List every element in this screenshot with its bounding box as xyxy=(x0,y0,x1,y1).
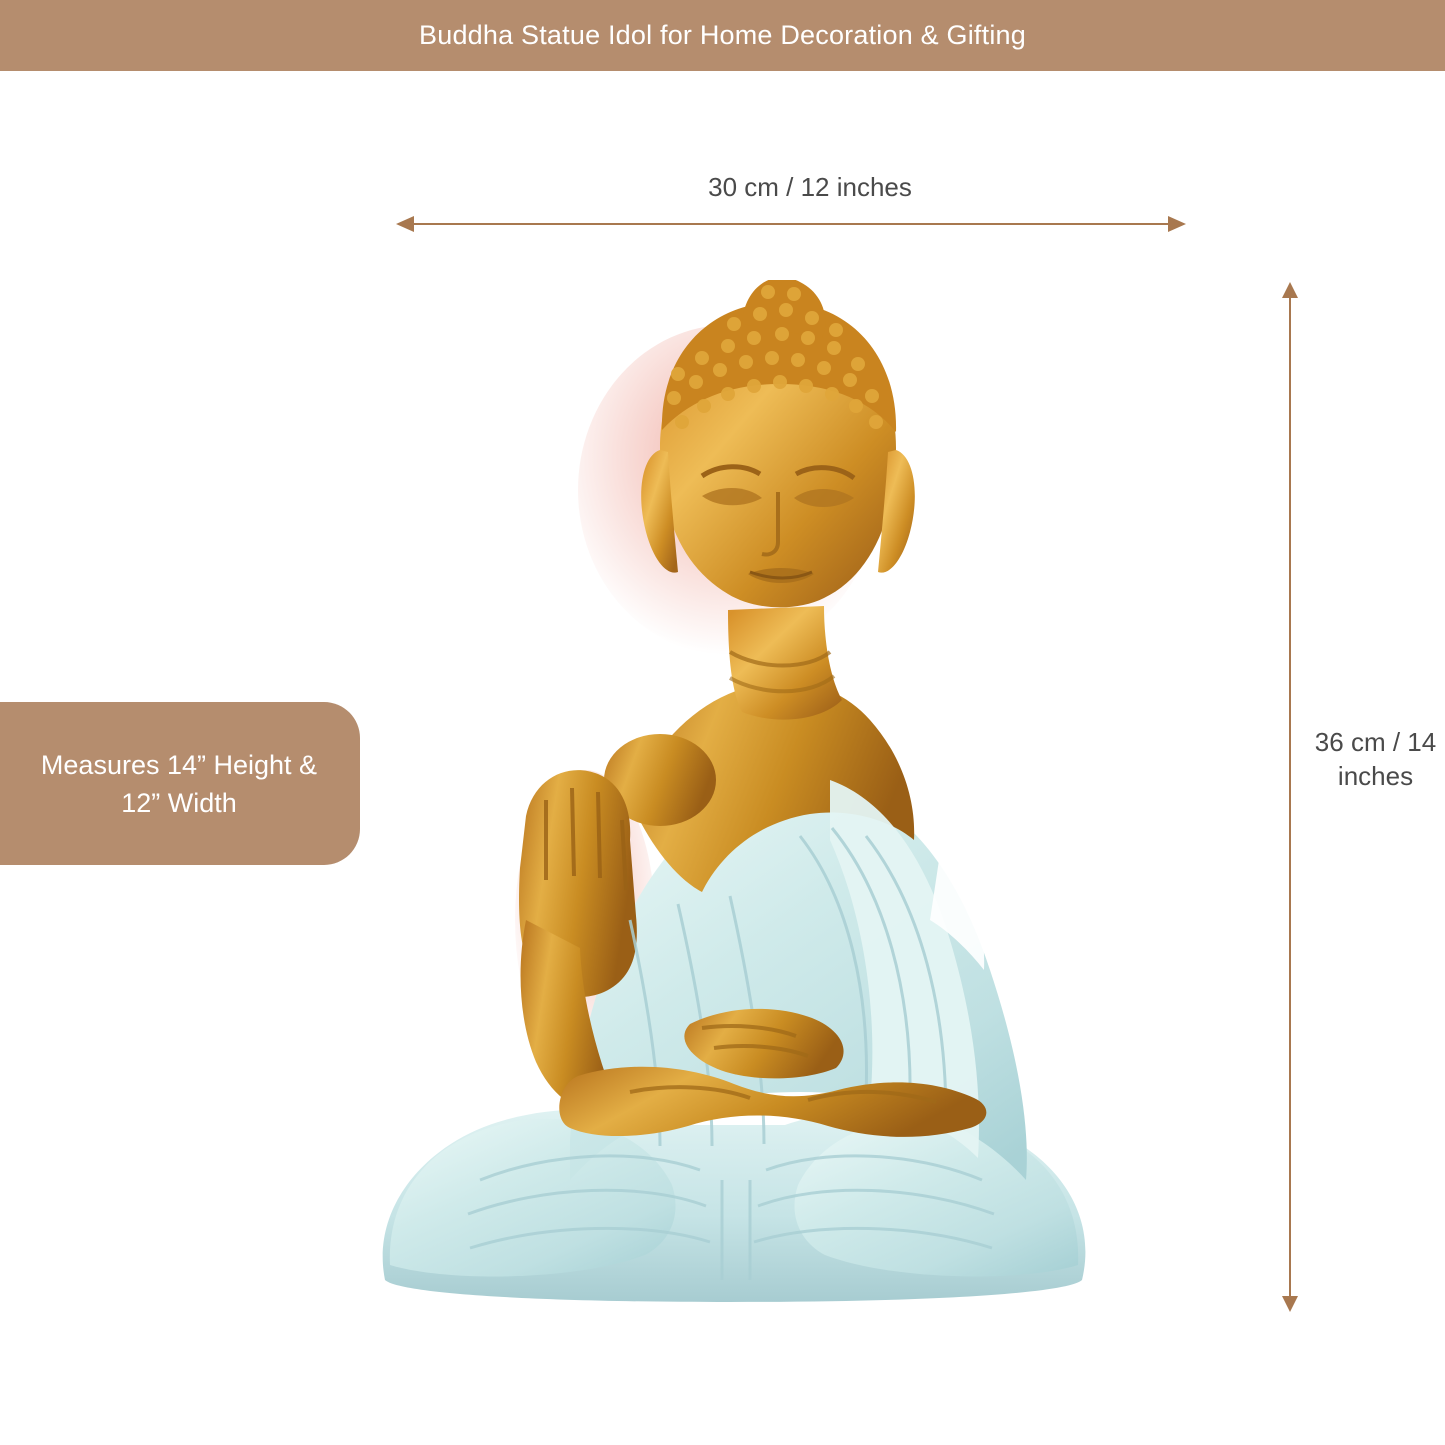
arrow-down-icon xyxy=(1282,1296,1298,1312)
measurement-callout-text: Measures 14” Height & 12” Width xyxy=(41,746,317,822)
height-dimension-arrow xyxy=(1278,282,1302,1312)
width-dimension-label: 30 cm / 12 inches xyxy=(640,172,980,203)
measurement-callout: Measures 14” Height & 12” Width xyxy=(0,702,360,865)
product-image-page: Buddha Statue Idol for Home Decoration &… xyxy=(0,0,1445,1445)
page-title: Buddha Statue Idol for Home Decoration &… xyxy=(419,20,1026,51)
arrow-right-icon xyxy=(1168,216,1186,232)
buddha-statue-image xyxy=(330,280,1130,1310)
header-banner: Buddha Statue Idol for Home Decoration &… xyxy=(0,0,1445,71)
height-dimension-label: 36 cm / 14 inches xyxy=(1306,725,1445,793)
width-dimension-arrow xyxy=(396,212,1186,236)
width-dimension-line xyxy=(404,223,1178,225)
height-dimension-line xyxy=(1289,290,1291,1304)
